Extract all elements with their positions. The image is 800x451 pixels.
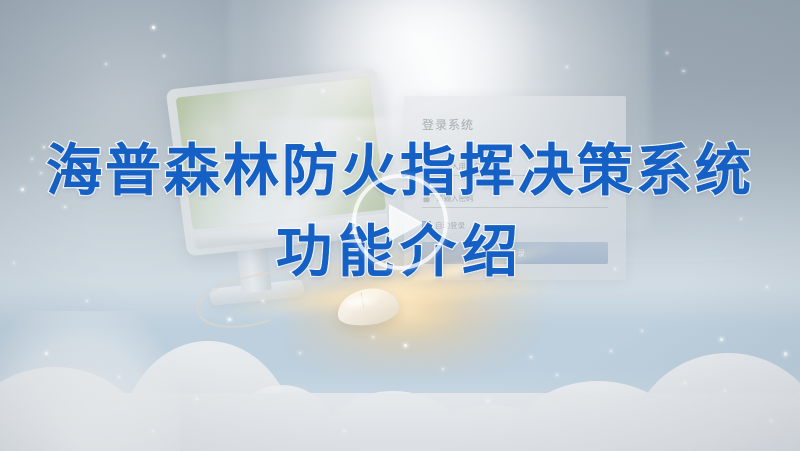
play-button[interactable]: [352, 174, 448, 270]
play-triangle-icon: [389, 204, 423, 242]
user-icon: [422, 162, 431, 171]
cloud-soft-left: [0, 311, 180, 451]
login-panel-heading: 登录系统: [422, 116, 474, 133]
password-field[interactable]: 请输入密码: [422, 190, 608, 208]
video-thumbnail-stage: 登录系统 请输入用户名 请输入密码 自动登录: [0, 0, 800, 451]
cloud-band: [0, 321, 800, 451]
username-field[interactable]: 请输入用户名: [422, 158, 608, 176]
username-placeholder: 请输入用户名: [436, 161, 481, 172]
mouse-highlight: [344, 292, 382, 312]
